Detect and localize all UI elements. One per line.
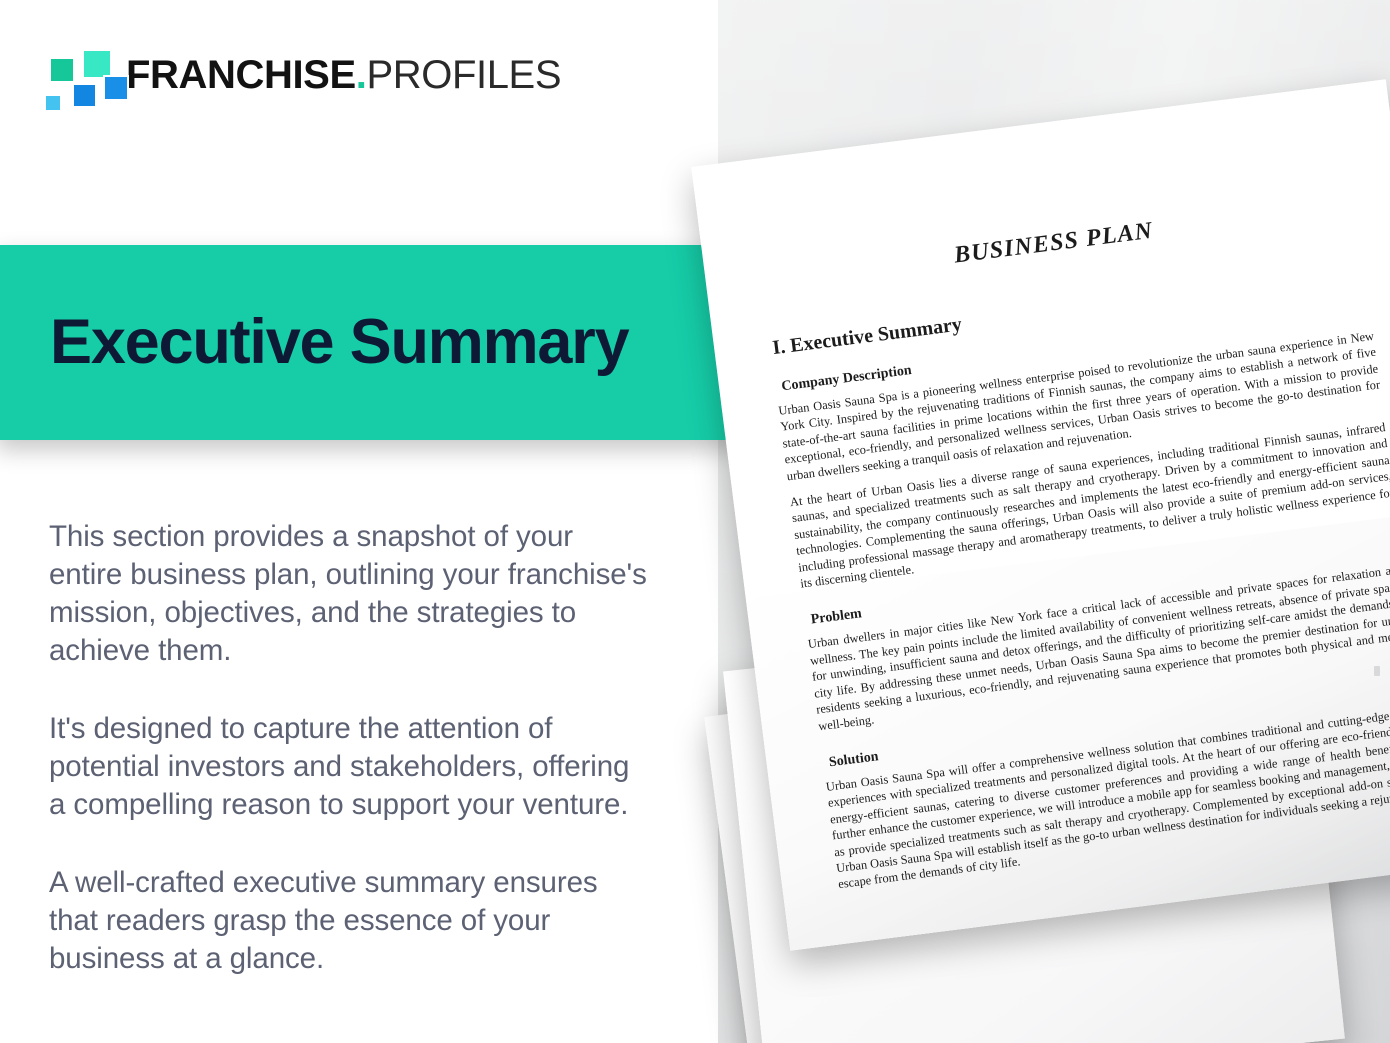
document-content: BUSINESS PLAN I. Executive Summary Compa…	[748, 192, 1390, 916]
brand-name-light: PROFILES	[366, 53, 561, 97]
body-paragraph-2: It's designed to capture the attention o…	[49, 710, 649, 824]
logo-square-1	[49, 57, 75, 83]
brand-wordmark: FRANCHISE.PROFILES	[126, 55, 561, 95]
logo-squares-icon	[44, 49, 106, 101]
brand-name-bold: FRANCHISE	[126, 53, 356, 97]
title-banner: Executive Summary	[0, 245, 740, 440]
logo-square-4	[103, 75, 129, 101]
brand-logo[interactable]: FRANCHISE.PROFILES	[44, 42, 561, 108]
body-copy: This section provides a snapshot of your…	[49, 518, 649, 978]
logo-square-3	[72, 83, 97, 108]
page-title: Executive Summary	[0, 311, 628, 374]
document-stack-image: demands of city life. BUSINESS PLAN I. E…	[700, 120, 1390, 1043]
brand-name-dot: .	[356, 53, 367, 97]
edge-marker	[1374, 666, 1380, 676]
body-paragraph-3: A well-crafted executive summary ensures…	[49, 864, 649, 978]
body-paragraph-1: This section provides a snapshot of your…	[49, 518, 649, 670]
logo-square-5	[44, 94, 62, 112]
paper-sheet-front: BUSINESS PLAN I. Executive Summary Compa…	[691, 79, 1390, 951]
slide: FRANCHISE.PROFILES Executive Summary Thi…	[0, 0, 1390, 1043]
